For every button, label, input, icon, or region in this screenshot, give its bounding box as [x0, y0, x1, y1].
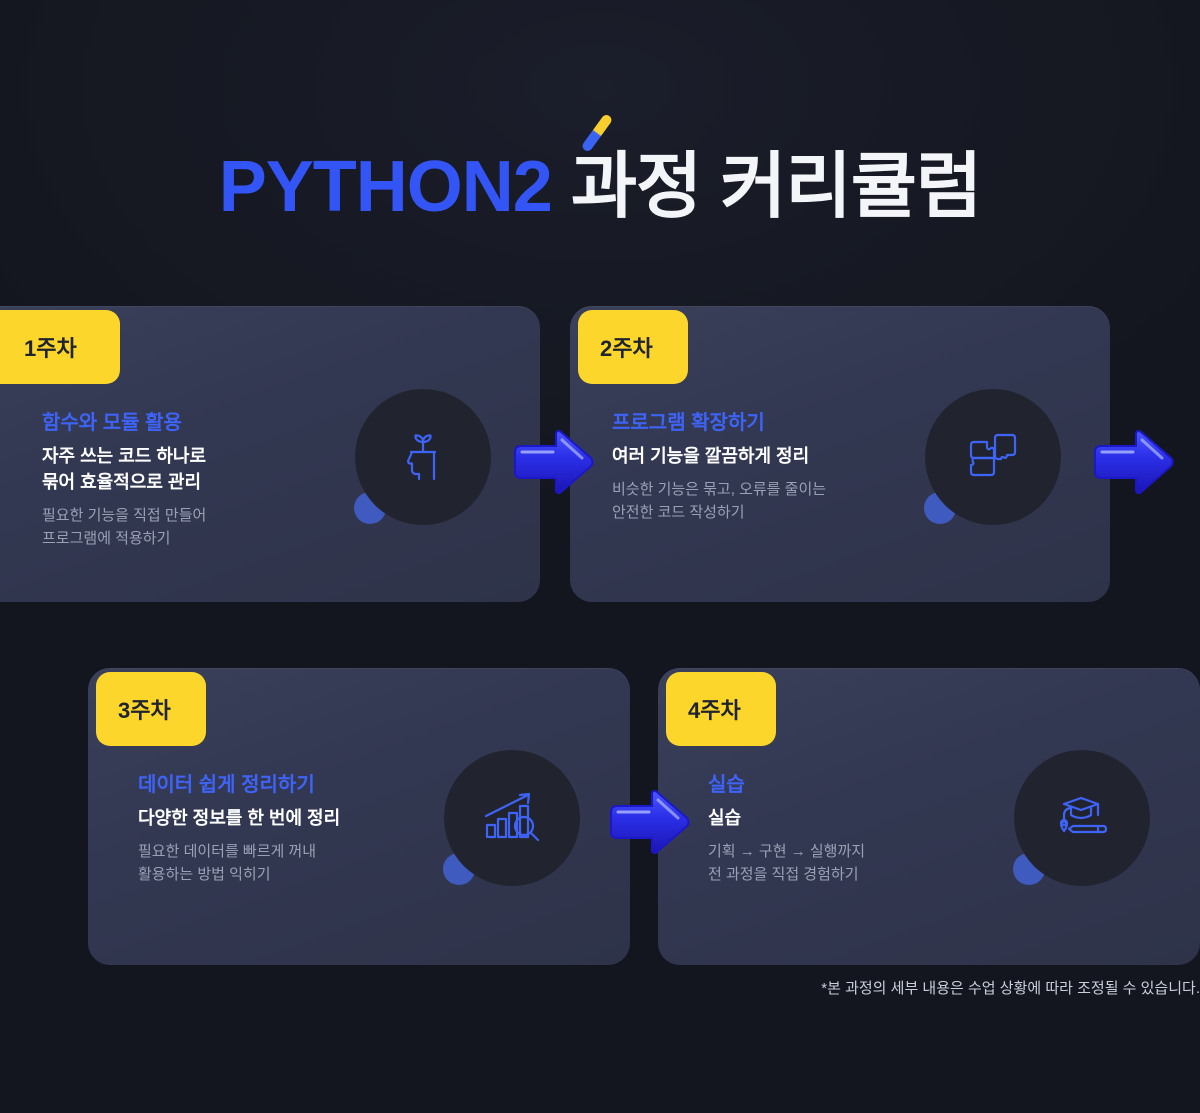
- week-icon-circle-3: [444, 750, 580, 886]
- puzzle-pieces-icon: [963, 427, 1023, 487]
- week-icon-circle-1: [355, 389, 491, 525]
- page-title-highlight: PYTHON2: [219, 147, 552, 227]
- page-title: PYTHON2 과정 커리큘럼: [0, 150, 1200, 226]
- week-badge-label: 3주차: [118, 693, 171, 725]
- week-description-3: 필요한 데이터를 빠르게 꺼내 활용하는 방법 익히기: [138, 841, 340, 887]
- footnote: *본 과정의 세부 내용은 수업 상황에 따라 조정될 수 있습니다.: [821, 977, 1200, 998]
- week-card-3-text: 데이터 쉽게 정리하기 다양한 정보를 한 번에 정리 필요한 데이터를 빠르게…: [138, 768, 340, 887]
- week-title-1: 함수와 모듈 활용: [42, 406, 206, 435]
- arrow-week3-to-week4: [608, 790, 690, 854]
- week-title-2: 프로그램 확장하기: [612, 406, 826, 435]
- page-title-rest: 과정 커리큘럼: [552, 147, 981, 227]
- week-description-1: 필요한 기능을 직접 만들어 프로그램에 적용하기: [42, 505, 206, 551]
- week-description-4: 기획 → 구현 → 실행까지 전 과정을 직접 경험하기: [708, 841, 865, 887]
- week-icon-circle-2: [925, 389, 1061, 525]
- week-card-2-text: 프로그램 확장하기 여러 기능을 깔끔하게 정리 비슷한 기능은 묶고, 오류를…: [612, 406, 826, 525]
- week-title-4: 실습: [708, 768, 865, 797]
- week-badge-4: 4주차: [666, 672, 776, 746]
- week-title-3: 데이터 쉽게 정리하기: [138, 768, 340, 797]
- week-icon-circle-4: [1014, 750, 1150, 886]
- week-description-2: 비슷한 기능은 묶고, 오류를 줄이는 안전한 코드 작성하기: [612, 479, 826, 525]
- week-badge-3: 3주차: [96, 672, 206, 746]
- arrow-week2-to-week3: [1092, 430, 1174, 494]
- week-subtitle-1: 자주 쓰는 코드 하나로 묶어 효율적으로 관리: [42, 444, 206, 496]
- week-badge-label: 2주차: [600, 331, 653, 363]
- graduation-cap-pen-icon: [1051, 790, 1113, 846]
- week-badge-2: 2주차: [578, 310, 688, 384]
- week-badge-label: 1주차: [24, 331, 77, 363]
- week-badge-label: 4주차: [688, 693, 741, 725]
- head-sprout-icon: [392, 426, 454, 488]
- week-card-4-text: 실습 실습 기획 → 구현 → 실행까지 전 과정을 직접 경험하기: [708, 768, 865, 887]
- curriculum-infographic: PYTHON2 과정 커리큘럼 1주차 함수와 모듈 활용 자주 쓰는 코드 하…: [0, 0, 1200, 1113]
- week-subtitle-4: 실습: [708, 806, 865, 832]
- arrow-week1-to-week2: [512, 430, 594, 494]
- week-card-1-text: 함수와 모듈 활용 자주 쓰는 코드 하나로 묶어 효율적으로 관리 필요한 기…: [42, 406, 206, 550]
- week-subtitle-2: 여러 기능을 깔끔하게 정리: [612, 444, 826, 470]
- week-subtitle-3: 다양한 정보를 한 번에 정리: [138, 806, 340, 832]
- bar-chart-search-icon: [481, 789, 543, 847]
- week-badge-1: 1주차: [0, 310, 120, 384]
